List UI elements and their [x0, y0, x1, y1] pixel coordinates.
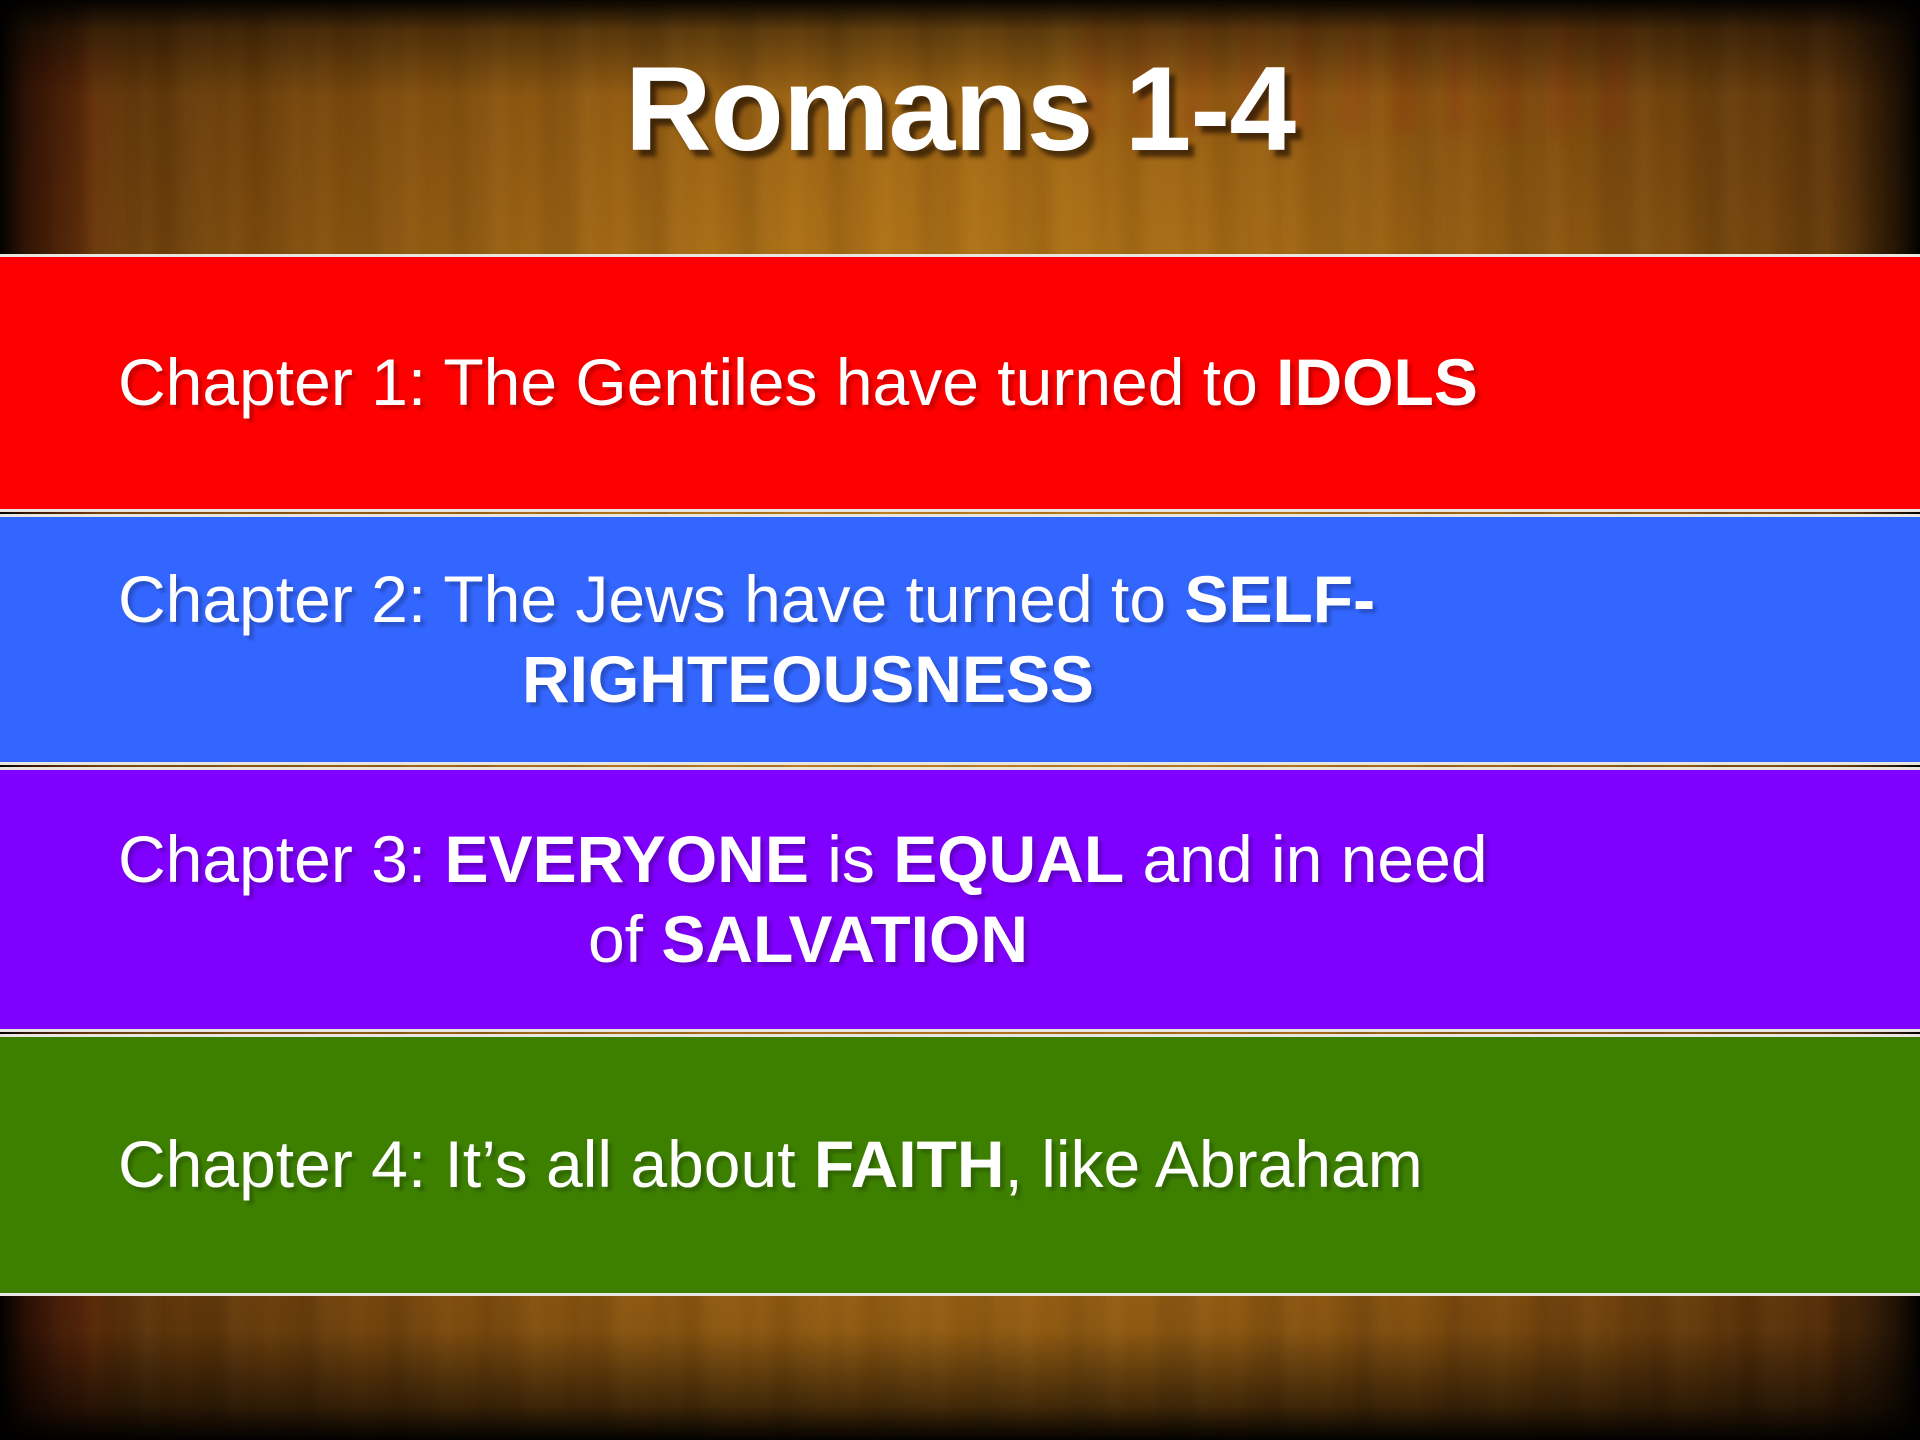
body-text: and in need: [1124, 822, 1487, 896]
chapter-band-1: Chapter 1: The Gentiles have turned to I…: [0, 254, 1920, 512]
body-text: Chapter 4: It’s all about: [118, 1127, 814, 1201]
chapter-band-4-line-1: Chapter 4: It’s all about FAITH, like Ab…: [118, 1125, 1828, 1204]
emphasis-text: EQUAL: [893, 822, 1124, 896]
chapter-band-2-line-2: RIGHTEOUSNESS: [118, 640, 1828, 719]
body-text: , like Abraham: [1005, 1127, 1423, 1201]
chapter-band-2: Chapter 2: The Jews have turned to SELF-…: [0, 514, 1920, 765]
chapter-band-2-line-1: Chapter 2: The Jews have turned to SELF-: [118, 560, 1828, 639]
chapter-band-1-text: Chapter 1: The Gentiles have turned to I…: [0, 343, 1920, 422]
body-text: is: [809, 822, 893, 896]
emphasis-text: SELF-: [1184, 562, 1375, 636]
slide-title: Romans 1-4: [0, 46, 1920, 172]
chapter-band-3-line-2: of SALVATION: [118, 900, 1828, 979]
chapter-band-4: Chapter 4: It’s all about FAITH, like Ab…: [0, 1034, 1920, 1296]
body-text: Chapter 1: The Gentiles have turned to: [118, 345, 1276, 419]
emphasis-text: SALVATION: [661, 902, 1028, 976]
body-text: of: [588, 902, 661, 976]
emphasis-text: IDOLS: [1276, 345, 1478, 419]
emphasis-text: EVERYONE: [445, 822, 809, 896]
chapter-band-4-text: Chapter 4: It’s all about FAITH, like Ab…: [0, 1125, 1920, 1204]
chapter-band-3-line-1: Chapter 3: EVERYONE is EQUAL and in need: [118, 820, 1828, 899]
emphasis-text: FAITH: [814, 1127, 1005, 1201]
chapter-band-2-text: Chapter 2: The Jews have turned to SELF-…: [0, 560, 1920, 718]
body-text: Chapter 3:: [118, 822, 445, 896]
chapter-band-3: Chapter 3: EVERYONE is EQUAL and in need…: [0, 767, 1920, 1032]
slide: Romans 1-4 Chapter 1: The Gentiles have …: [0, 0, 1920, 1440]
emphasis-text: RIGHTEOUSNESS: [522, 642, 1094, 716]
chapter-band-3-text: Chapter 3: EVERYONE is EQUAL and in need…: [0, 820, 1920, 978]
chapter-band-1-line-1: Chapter 1: The Gentiles have turned to I…: [118, 343, 1828, 422]
body-text: Chapter 2: The Jews have turned to: [118, 562, 1184, 636]
